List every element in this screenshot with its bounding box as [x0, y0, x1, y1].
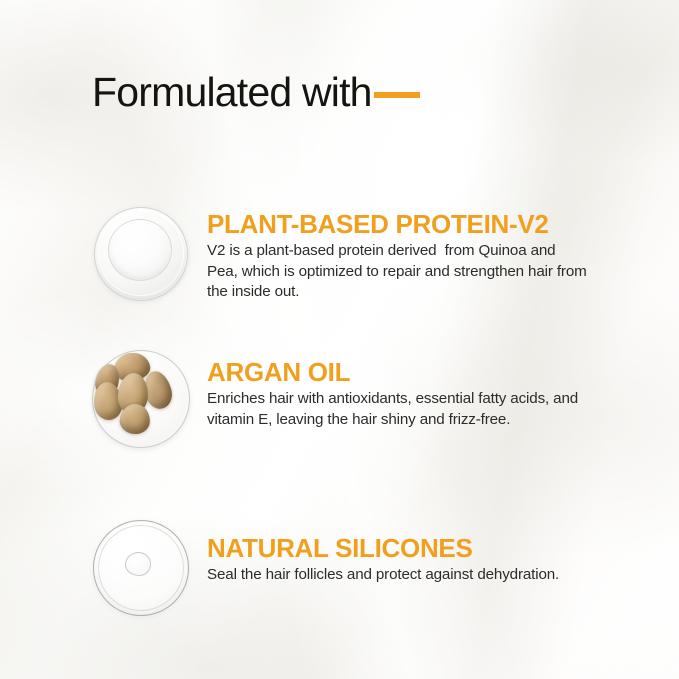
ingredient-name: PLANT-BASED PROTEIN-V2	[207, 210, 588, 238]
ingredient-text-block: ARGAN OIL Enriches hair with antioxidant…	[193, 344, 588, 430]
petri-dish-clear-gel-icon	[88, 512, 193, 617]
petri-dish-argan-nuts-icon	[88, 344, 193, 449]
page-title: Formulated with	[92, 72, 372, 113]
ingredient-text-block: PLANT-BASED PROTEIN-V2 V2 is a plant-bas…	[193, 198, 588, 303]
ingredient-description: V2 is a plant-based protein derived from…	[207, 241, 588, 303]
ingredient-row: NATURAL SILICONES Seal the hair follicle…	[88, 512, 588, 617]
ingredient-row: ARGAN OIL Enriches hair with antioxidant…	[88, 344, 588, 449]
ingredient-text-block: NATURAL SILICONES Seal the hair follicle…	[193, 512, 588, 586]
ingredient-description: Enriches hair with antioxidants, essenti…	[207, 389, 588, 430]
ingredient-name: NATURAL SILICONES	[207, 534, 588, 562]
product-ingredients-panel: Formulated with PLANT-BASED PROTEIN-V2 V…	[0, 0, 679, 679]
ingredient-name: ARGAN OIL	[207, 358, 588, 386]
silicone-gel-droplet	[125, 552, 151, 576]
ingredient-row: PLANT-BASED PROTEIN-V2 V2 is a plant-bas…	[88, 198, 588, 303]
header: Formulated with	[92, 72, 420, 113]
petri-dish-white-cream-icon	[88, 198, 193, 303]
ingredient-description: Seal the hair follicles and protect agai…	[207, 565, 588, 586]
title-dash-accent	[374, 92, 420, 98]
